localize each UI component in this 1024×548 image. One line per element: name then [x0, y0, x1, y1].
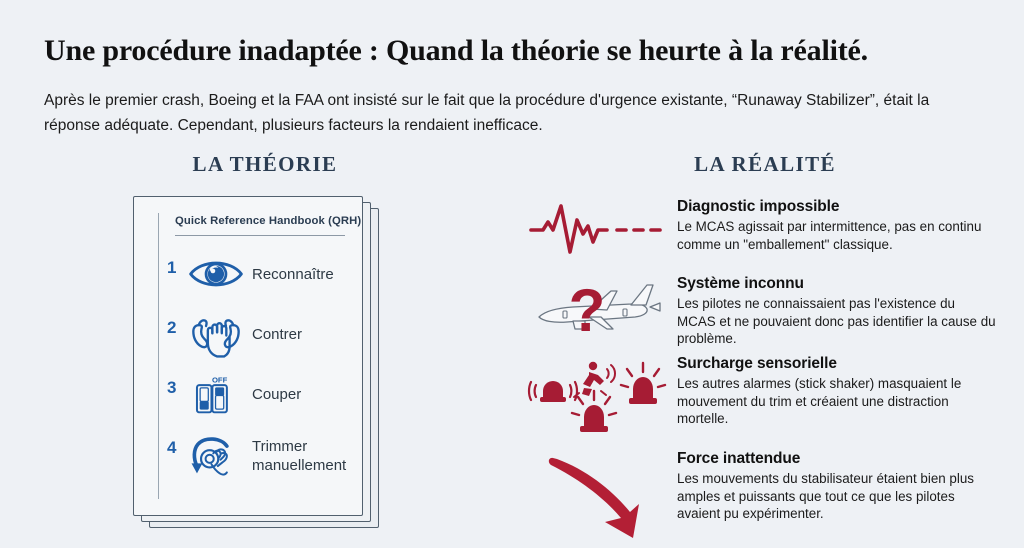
- qrh-step-number: 2: [167, 318, 176, 338]
- qrh-step-2: 2: [167, 312, 357, 372]
- curved-down-arrow-icon: [527, 446, 667, 518]
- reality-heading: Surcharge sensorielle: [677, 355, 997, 373]
- qrh-step-3: 3 OFF Couper: [167, 372, 357, 432]
- page-title: Une procédure inadaptée : Quand la théor…: [44, 34, 984, 68]
- airplane-question-icon: ?: [527, 273, 667, 345]
- cutout-switches-icon: OFF: [187, 372, 245, 422]
- reality-heading: Système inconnu: [677, 275, 997, 293]
- reality-text-block: Force inattendue Les mouvements du stabi…: [677, 450, 997, 523]
- reality-body: Les autres alarmes (stick shaker) masqua…: [677, 375, 997, 428]
- qrh-margin-rule: [158, 213, 159, 499]
- page-subtitle: Après le premier crash, Boeing et la FAA…: [44, 88, 989, 138]
- qrh-title: Quick Reference Handbook (QRH): [175, 215, 345, 227]
- reality-body: Les pilotes ne connaissaient pas l'exist…: [677, 295, 997, 348]
- reality-body: Le MCAS agissait par intermittence, pas …: [677, 218, 997, 253]
- switch-off-label: OFF: [212, 375, 228, 384]
- qrh-sheet-front: Quick Reference Handbook (QRH) 1: [133, 196, 363, 516]
- hands-grip-icon: [187, 312, 245, 362]
- qrh-title-underline: [175, 235, 345, 236]
- svg-text:?: ?: [569, 277, 606, 344]
- column-heading-theory: LA THÉORIE: [150, 152, 380, 177]
- reality-heading: Diagnostic impossible: [677, 198, 997, 216]
- infographic-page: Une procédure inadaptée : Quand la théor…: [0, 0, 1024, 548]
- qrh-step-label: Couper: [252, 385, 364, 404]
- ecg-intermittent-icon: [527, 200, 667, 272]
- column-heading-reality: LA RÉALITÉ: [640, 152, 890, 177]
- reality-text-block: Surcharge sensorielle Les autres alarmes…: [677, 355, 997, 428]
- reality-text-block: Système inconnu Les pilotes ne connaissa…: [677, 275, 997, 348]
- reality-heading: Force inattendue: [677, 450, 997, 468]
- alarm-light-icon: [621, 363, 665, 404]
- qrh-step-number: 4: [167, 438, 176, 458]
- qrh-step-label: Trimmer manuellement: [252, 437, 364, 475]
- qrh-step-label: Reconnaître: [252, 265, 364, 284]
- qrh-step-number: 1: [167, 258, 176, 278]
- multiple-alarms-icon: [527, 357, 667, 429]
- eye-icon: [187, 252, 245, 302]
- alarm-light-icon: [572, 391, 616, 432]
- reality-text-block: Diagnostic impossible Le MCAS agissait p…: [677, 198, 997, 253]
- qrh-document-stack: Quick Reference Handbook (QRH) 1: [133, 196, 378, 526]
- reality-body: Les mouvements du stabilisateur étaient …: [677, 470, 997, 523]
- question-mark-glyph: ?: [569, 277, 606, 344]
- alarm-bell-icon: [529, 381, 577, 402]
- trim-wheel-hand-icon: [187, 432, 245, 482]
- qrh-step-number: 3: [167, 378, 176, 398]
- qrh-step-4: 4: [167, 432, 357, 492]
- qrh-step-1: 1 Reconnaître: [167, 252, 357, 312]
- qrh-step-label: Contrer: [252, 325, 364, 344]
